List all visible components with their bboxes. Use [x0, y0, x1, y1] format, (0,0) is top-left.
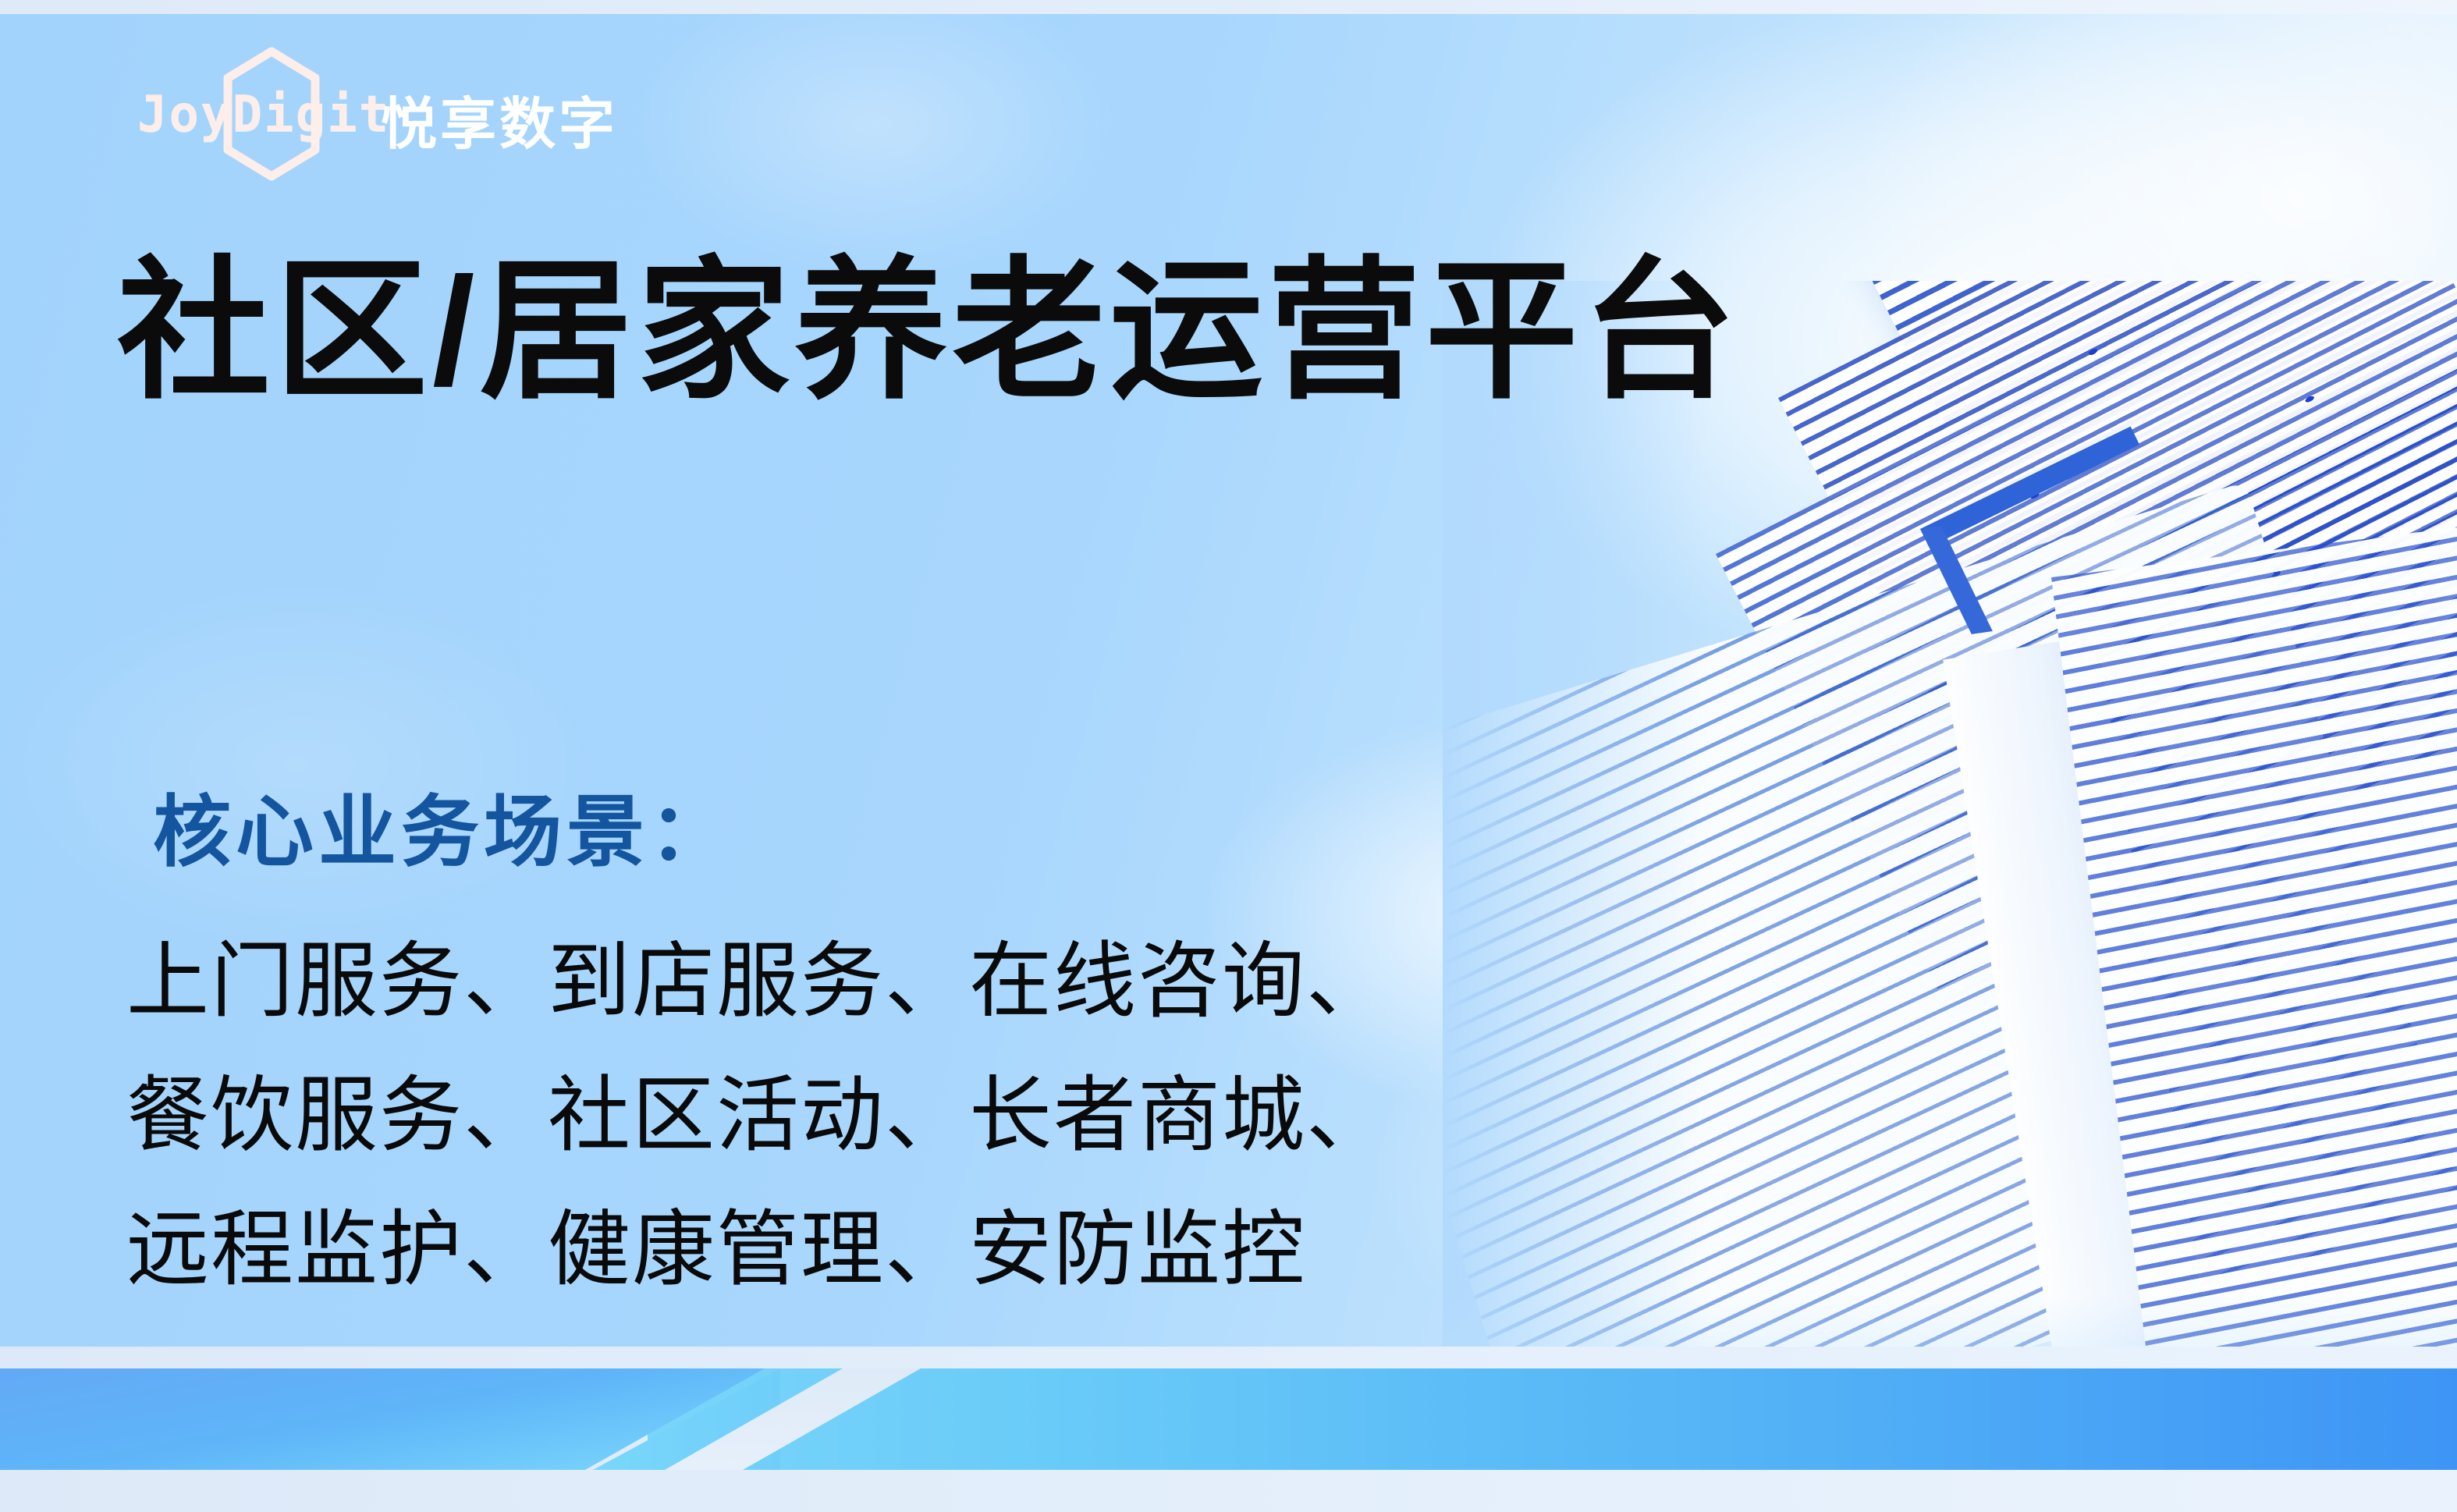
scenario-line-2: 餐饮服务、社区活动、长者商城、: [126, 1049, 1390, 1183]
page-title: 社区/居家养老运营平台: [117, 251, 1740, 412]
section-heading: 核心业务场景：: [153, 768, 732, 882]
brand-logo: JoyDigit 悦享数字: [137, 67, 668, 161]
skyscraper-photo: [1443, 281, 2457, 1389]
bottom-banner: [0, 1347, 2457, 1512]
photo-left-fade: [1443, 281, 1708, 1389]
logo-wordmark-cn: 悦享数字: [381, 78, 618, 160]
logo-wordmark-latin: JoyDigit: [137, 86, 390, 144]
banner-band-right: [648, 1368, 2457, 1470]
scenario-list: 上门服务、到店服务、在线咨询、 餐饮服务、社区活动、长者商城、 远程监护、健康管…: [126, 914, 1390, 1317]
slide-root: JoyDigit 悦享数字 社区/居家养老运营平台 核心业务场景： 上门服务、到…: [0, 0, 2457, 1512]
top-edge-strip: [0, 0, 2457, 14]
scenario-line-1: 上门服务、到店服务、在线咨询、: [126, 914, 1390, 1049]
scenario-line-3: 远程监护、健康管理、安防监控: [126, 1183, 1390, 1317]
